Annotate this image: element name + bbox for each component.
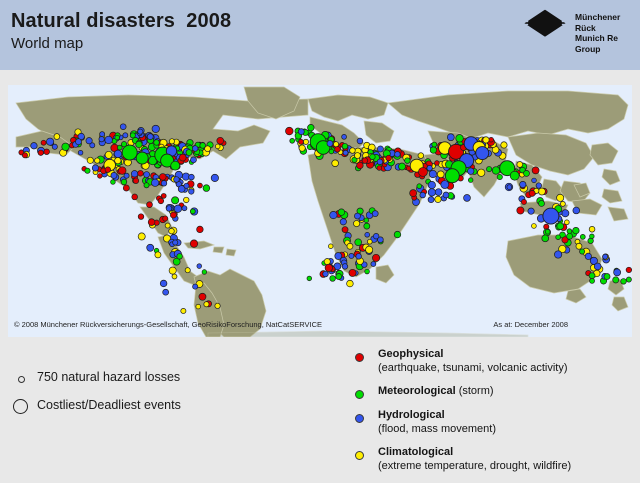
event-marker[interactable]: [41, 140, 46, 145]
size-legend-label-costliest: Costliest/Deadliest events: [37, 398, 181, 412]
event-marker[interactable]: [298, 129, 304, 135]
event-marker[interactable]: [347, 280, 354, 287]
event-marker[interactable]: [123, 133, 128, 138]
event-marker[interactable]: [418, 167, 427, 176]
event-marker[interactable]: [395, 152, 401, 158]
event-marker[interactable]: [366, 246, 373, 253]
event-marker[interactable]: [542, 235, 549, 242]
event-marker[interactable]: [342, 227, 348, 233]
event-marker[interactable]: [386, 155, 392, 161]
event-marker[interactable]: [486, 166, 491, 171]
event-marker[interactable]: [371, 262, 376, 267]
event-marker[interactable]: [144, 172, 150, 178]
event-marker[interactable]: [483, 137, 489, 143]
event-marker[interactable]: [517, 162, 523, 168]
event-marker[interactable]: [589, 273, 595, 279]
event-marker[interactable]: [197, 226, 204, 233]
event-marker[interactable]: [573, 227, 580, 234]
event-marker[interactable]: [332, 160, 339, 167]
event-marker[interactable]: [115, 157, 121, 163]
event-marker[interactable]: [364, 223, 370, 229]
event-marker[interactable]: [532, 224, 537, 229]
event-marker[interactable]: [410, 190, 417, 197]
event-marker[interactable]: [557, 194, 564, 201]
event-marker[interactable]: [536, 183, 542, 189]
legend-name-climatological: Climatological: [378, 446, 453, 458]
event-marker[interactable]: [441, 181, 449, 189]
event-marker[interactable]: [367, 239, 372, 244]
event-marker[interactable]: [437, 171, 444, 178]
event-marker[interactable]: [160, 280, 167, 287]
legend-desc-climatological: (extreme temperature, drought, wildfire): [378, 460, 571, 472]
event-marker[interactable]: [186, 150, 192, 156]
event-marker[interactable]: [323, 271, 329, 277]
event-marker[interactable]: [354, 213, 360, 219]
event-marker[interactable]: [154, 140, 160, 146]
event-marker[interactable]: [576, 243, 582, 249]
event-marker[interactable]: [166, 206, 172, 212]
event-marker[interactable]: [100, 132, 105, 137]
event-marker[interactable]: [138, 129, 143, 134]
legend-name-geophysical: Geophysical: [378, 348, 443, 360]
event-marker[interactable]: [347, 243, 353, 249]
event-marker[interactable]: [133, 178, 139, 184]
event-marker[interactable]: [343, 150, 348, 155]
event-marker[interactable]: [123, 185, 129, 191]
event-marker[interactable]: [183, 197, 189, 203]
event-marker[interactable]: [111, 172, 117, 178]
hydrological-dot-icon: [355, 414, 364, 423]
event-marker[interactable]: [443, 192, 449, 198]
event-marker[interactable]: [614, 269, 621, 276]
event-marker[interactable]: [349, 269, 356, 276]
event-marker[interactable]: [340, 219, 346, 225]
event-marker[interactable]: [163, 289, 169, 295]
event-marker[interactable]: [590, 234, 595, 239]
event-marker[interactable]: [567, 233, 573, 239]
event-marker[interactable]: [138, 233, 145, 240]
event-marker[interactable]: [528, 208, 534, 214]
event-marker[interactable]: [46, 138, 53, 145]
event-marker[interactable]: [171, 161, 180, 170]
small-open-circle-icon: [10, 368, 36, 390]
geophysical-dot-icon: [355, 353, 364, 362]
slide-header: Natural disasters 2008 World map: [0, 0, 640, 70]
brand-logo: Münchener Rück Munich Re Group: [522, 6, 634, 42]
event-marker[interactable]: [189, 174, 195, 180]
event-marker[interactable]: [560, 201, 565, 206]
event-marker[interactable]: [405, 158, 411, 164]
event-marker[interactable]: [124, 173, 129, 178]
event-marker[interactable]: [190, 209, 195, 214]
event-marker[interactable]: [543, 208, 559, 224]
event-marker[interactable]: [521, 199, 526, 204]
event-marker[interactable]: [196, 304, 201, 309]
event-marker[interactable]: [355, 239, 362, 246]
event-marker[interactable]: [517, 207, 524, 214]
event-marker[interactable]: [147, 202, 153, 208]
event-marker[interactable]: [497, 174, 502, 179]
event-marker[interactable]: [468, 178, 473, 183]
event-marker[interactable]: [445, 169, 459, 183]
event-marker[interactable]: [165, 223, 170, 228]
event-marker[interactable]: [447, 134, 454, 141]
event-marker[interactable]: [562, 210, 569, 217]
brand-name-en: Munich Re Group: [575, 33, 634, 54]
event-marker[interactable]: [197, 264, 202, 269]
event-marker[interactable]: [173, 240, 178, 245]
event-marker[interactable]: [330, 211, 337, 218]
legend-name-hydrological: Hydrological: [378, 409, 445, 421]
event-marker[interactable]: [62, 143, 69, 151]
event-marker[interactable]: [97, 174, 102, 179]
event-marker[interactable]: [362, 158, 368, 164]
slide-root: Natural disasters 2008 World map: [0, 0, 640, 481]
world-map[interactable]: [8, 85, 632, 337]
event-marker[interactable]: [190, 240, 197, 247]
event-marker[interactable]: [467, 168, 473, 174]
event-marker[interactable]: [169, 267, 176, 274]
event-marker[interactable]: [170, 212, 176, 218]
event-marker[interactable]: [557, 223, 564, 230]
event-marker[interactable]: [308, 124, 315, 131]
event-marker[interactable]: [370, 154, 376, 160]
event-marker[interactable]: [357, 162, 364, 169]
event-marker[interactable]: [372, 254, 379, 261]
event-marker[interactable]: [130, 133, 135, 138]
event-marker[interactable]: [336, 274, 342, 280]
event-marker[interactable]: [418, 153, 424, 159]
event-marker[interactable]: [377, 146, 383, 152]
event-marker[interactable]: [589, 226, 595, 232]
event-marker[interactable]: [523, 170, 529, 176]
event-marker[interactable]: [357, 138, 363, 144]
event-marker[interactable]: [99, 136, 104, 141]
event-marker[interactable]: [204, 302, 209, 307]
event-marker[interactable]: [286, 127, 294, 135]
event-marker[interactable]: [31, 143, 37, 149]
event-marker[interactable]: [161, 193, 166, 198]
event-marker[interactable]: [520, 181, 526, 187]
event-marker[interactable]: [364, 218, 369, 223]
event-marker[interactable]: [430, 147, 436, 153]
event-marker[interactable]: [342, 264, 348, 270]
event-marker[interactable]: [335, 253, 342, 260]
event-marker[interactable]: [87, 157, 93, 163]
event-marker[interactable]: [44, 149, 50, 155]
event-marker[interactable]: [333, 142, 338, 147]
event-marker[interactable]: [342, 143, 348, 149]
event-marker[interactable]: [121, 179, 127, 185]
event-marker[interactable]: [394, 231, 401, 238]
event-marker[interactable]: [95, 158, 100, 163]
event-marker[interactable]: [200, 143, 206, 149]
category-legend: Geophysical (earthquake, tsunami, volcan…: [355, 348, 640, 483]
event-marker[interactable]: [324, 259, 330, 265]
event-marker[interactable]: [120, 124, 126, 130]
event-marker[interactable]: [155, 252, 161, 258]
event-marker[interactable]: [478, 169, 485, 176]
event-marker[interactable]: [105, 151, 112, 158]
event-marker[interactable]: [342, 134, 347, 139]
event-marker[interactable]: [177, 254, 183, 260]
event-marker[interactable]: [510, 171, 519, 180]
event-marker[interactable]: [373, 233, 379, 239]
event-marker[interactable]: [492, 167, 500, 175]
event-marker[interactable]: [147, 134, 153, 140]
event-marker[interactable]: [38, 150, 43, 155]
legend-desc-geophysical: (earthquake, tsunami, volcanic activity): [378, 362, 568, 374]
event-marker[interactable]: [539, 200, 545, 206]
legend-item-geophysical[interactable]: Geophysical (earthquake, tsunami, volcan…: [355, 348, 640, 379]
event-marker[interactable]: [179, 154, 186, 161]
event-marker[interactable]: [428, 189, 435, 196]
event-marker[interactable]: [76, 139, 82, 145]
event-marker[interactable]: [189, 189, 194, 194]
event-marker[interactable]: [86, 138, 92, 144]
event-marker[interactable]: [432, 142, 437, 147]
event-marker[interactable]: [427, 165, 432, 170]
event-marker[interactable]: [621, 279, 627, 285]
event-marker[interactable]: [181, 308, 186, 313]
event-marker[interactable]: [85, 168, 90, 173]
large-open-circle-icon: [10, 396, 36, 418]
event-marker[interactable]: [489, 137, 494, 142]
event-marker[interactable]: [105, 167, 111, 173]
size-legend-item-losses: 750 natural hazard losses: [10, 368, 330, 396]
event-marker[interactable]: [118, 167, 126, 175]
event-marker[interactable]: [365, 232, 370, 237]
event-marker[interactable]: [501, 142, 507, 148]
event-marker[interactable]: [158, 198, 164, 204]
event-marker[interactable]: [435, 196, 441, 202]
event-marker[interactable]: [580, 234, 585, 239]
legend-desc-meteorological: (storm): [459, 385, 494, 397]
event-marker[interactable]: [330, 276, 336, 282]
event-marker[interactable]: [152, 125, 159, 132]
event-marker[interactable]: [604, 274, 610, 280]
event-marker[interactable]: [428, 197, 434, 203]
event-marker[interactable]: [532, 167, 539, 174]
event-marker[interactable]: [476, 147, 489, 160]
climatological-dot-icon: [355, 451, 364, 460]
event-marker[interactable]: [192, 146, 198, 152]
event-marker[interactable]: [78, 150, 83, 155]
event-marker[interactable]: [299, 145, 305, 151]
munich-re-lens-logo-icon: [522, 7, 568, 40]
event-marker[interactable]: [163, 216, 168, 221]
event-marker[interactable]: [148, 219, 155, 226]
event-marker[interactable]: [354, 153, 360, 159]
event-marker[interactable]: [372, 211, 378, 217]
event-marker[interactable]: [199, 293, 206, 300]
event-marker[interactable]: [464, 194, 471, 201]
event-marker[interactable]: [335, 146, 341, 152]
event-marker[interactable]: [159, 174, 166, 181]
event-marker[interactable]: [594, 263, 601, 270]
meteorological-dot-icon: [355, 390, 364, 399]
event-marker[interactable]: [184, 183, 189, 188]
event-marker[interactable]: [365, 269, 370, 274]
event-marker[interactable]: [215, 144, 220, 149]
brand-name-de: Münchener Rück: [575, 12, 634, 33]
event-marker[interactable]: [580, 249, 585, 254]
event-marker[interactable]: [349, 253, 354, 258]
event-marker[interactable]: [456, 135, 464, 143]
event-marker[interactable]: [172, 274, 177, 279]
event-marker[interactable]: [307, 276, 312, 281]
event-marker[interactable]: [193, 284, 198, 289]
event-marker[interactable]: [573, 207, 580, 214]
event-marker[interactable]: [328, 244, 333, 249]
event-marker[interactable]: [131, 170, 138, 177]
event-marker[interactable]: [202, 270, 207, 275]
event-marker[interactable]: [215, 303, 220, 308]
event-marker[interactable]: [290, 138, 295, 143]
event-marker[interactable]: [590, 278, 595, 283]
event-marker[interactable]: [428, 181, 435, 188]
event-marker[interactable]: [144, 183, 149, 188]
event-marker[interactable]: [327, 140, 333, 146]
event-marker[interactable]: [303, 139, 308, 144]
event-marker[interactable]: [417, 184, 422, 189]
event-marker[interactable]: [325, 264, 332, 271]
legend-desc-hydrological: (flood, mass movement): [378, 423, 496, 435]
event-marker[interactable]: [161, 180, 167, 186]
event-marker[interactable]: [54, 134, 60, 140]
event-marker[interactable]: [211, 174, 218, 181]
event-marker[interactable]: [136, 141, 143, 148]
event-marker[interactable]: [435, 189, 442, 196]
legend-item-meteorological[interactable]: Meteorological (storm): [355, 385, 640, 403]
event-marker[interactable]: [172, 197, 179, 204]
legend-item-climatological[interactable]: Climatological (extreme temperature, dro…: [355, 446, 640, 477]
event-marker[interactable]: [203, 185, 210, 192]
legend-item-hydrological[interactable]: Hydrological (flood, mass movement): [355, 409, 640, 440]
event-marker[interactable]: [429, 170, 436, 177]
event-marker[interactable]: [613, 277, 619, 283]
event-marker[interactable]: [507, 185, 512, 190]
page-title: Natural disasters 2008: [11, 10, 231, 33]
event-marker[interactable]: [532, 178, 537, 183]
event-marker[interactable]: [122, 145, 137, 160]
event-marker[interactable]: [377, 159, 383, 165]
event-marker[interactable]: [174, 177, 180, 183]
event-marker[interactable]: [217, 137, 224, 144]
event-marker[interactable]: [585, 253, 591, 259]
event-marker[interactable]: [169, 139, 174, 144]
event-marker[interactable]: [545, 229, 550, 234]
event-marker[interactable]: [105, 136, 113, 144]
event-marker[interactable]: [538, 188, 545, 195]
event-marker[interactable]: [136, 152, 148, 164]
event-marker[interactable]: [191, 157, 197, 163]
event-marker[interactable]: [115, 135, 120, 140]
event-marker[interactable]: [151, 179, 158, 186]
event-marker[interactable]: [350, 148, 356, 154]
event-marker[interactable]: [556, 235, 561, 240]
event-marker[interactable]: [182, 206, 187, 211]
event-marker[interactable]: [197, 183, 202, 188]
size-legend-label-losses: 750 natural hazard losses: [37, 370, 180, 384]
page-subtitle: World map: [11, 35, 83, 52]
event-marker[interactable]: [138, 170, 144, 176]
event-marker[interactable]: [398, 163, 405, 170]
event-marker[interactable]: [603, 254, 608, 259]
event-marker[interactable]: [356, 254, 362, 260]
event-marker[interactable]: [132, 194, 138, 200]
event-marker[interactable]: [114, 150, 122, 158]
event-marker[interactable]: [169, 228, 175, 234]
event-marker[interactable]: [626, 267, 632, 273]
event-marker[interactable]: [435, 161, 440, 166]
event-marker[interactable]: [567, 229, 572, 234]
event-marker[interactable]: [420, 192, 426, 198]
event-marker[interactable]: [92, 165, 98, 171]
event-marker[interactable]: [138, 214, 144, 220]
event-marker[interactable]: [377, 166, 382, 171]
event-marker[interactable]: [338, 209, 345, 216]
event-marker[interactable]: [626, 277, 631, 282]
brand-logo-text: Münchener Rück Munich Re Group: [575, 12, 634, 54]
event-marker[interactable]: [147, 244, 154, 251]
size-legend-item-costliest: Costliest/Deadliest events: [10, 396, 330, 424]
event-marker[interactable]: [185, 268, 190, 273]
world-map-canvas[interactable]: [8, 85, 632, 337]
event-marker[interactable]: [299, 139, 304, 144]
event-marker[interactable]: [52, 144, 57, 149]
size-legend: 750 natural hazard losses Costliest/Dead…: [10, 368, 330, 424]
event-marker[interactable]: [529, 190, 535, 196]
legend-name-meteorological: Meteorological: [378, 385, 456, 397]
event-marker[interactable]: [353, 220, 359, 226]
event-marker[interactable]: [554, 251, 561, 258]
event-marker[interactable]: [22, 153, 27, 158]
